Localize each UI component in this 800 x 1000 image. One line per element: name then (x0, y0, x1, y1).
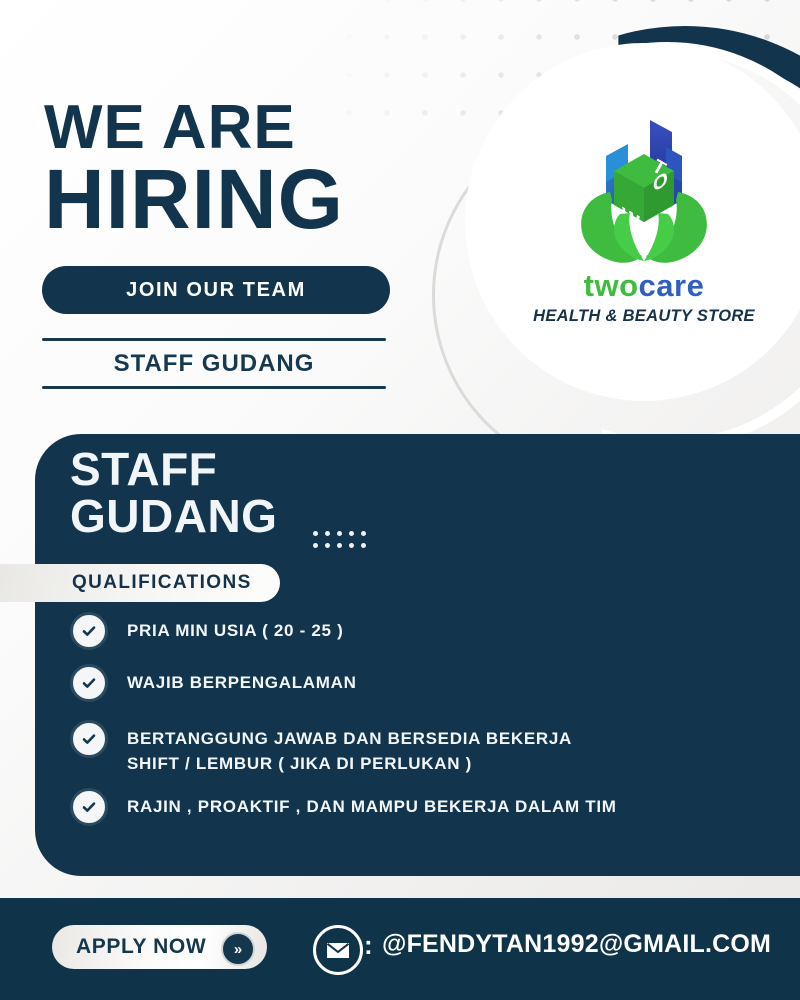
list-item: BERTANGGUNG JAWAB DAN BERSEDIA BEKERJA S… (70, 724, 730, 776)
check-circle-icon (70, 664, 108, 702)
list-item-label: RAJIN , PROAKTIF , DAN MAMPU BEKERJA DAL… (127, 792, 617, 820)
apply-now-label: APPLY NOW (76, 935, 206, 959)
qualifications-badge: QUALIFICATIONS (0, 564, 280, 602)
check-circle-icon (70, 612, 108, 650)
brand-tagline: HEALTH & BEAUTY STORE (533, 307, 755, 326)
join-our-team-label: JOIN OUR TEAM (126, 279, 306, 302)
company-logo: T W O twocare HEALTH & BEAUTY STORE (474, 52, 800, 392)
panel-job-title: STAFF GUDANG (70, 446, 400, 541)
twocare-cube-hands-icon: T W O (554, 118, 734, 268)
join-our-team-pill: JOIN OUR TEAM (42, 266, 390, 314)
apply-now-button[interactable]: APPLY NOW » (52, 925, 267, 969)
brand-wordmark: twocare (584, 270, 705, 301)
hiring-poster: T W O twocare HEALTH & BEAUTY STORE WE A… (0, 0, 800, 1000)
email-icon (313, 925, 363, 975)
headline-line-2: HIRING (44, 157, 344, 241)
panel-job-title-line-1: STAFF (70, 446, 400, 493)
check-circle-icon (70, 720, 108, 758)
role-title: STAFF GUDANG (42, 341, 386, 386)
double-chevron-right-icon: » (221, 932, 255, 966)
list-item-label: BERTANGGUNG JAWAB DAN BERSEDIA BEKERJA S… (127, 724, 572, 776)
brand-part-two: care (639, 268, 705, 303)
list-item: PRIA MIN USIA ( 20 - 25 ) (70, 616, 730, 650)
list-item-label: PRIA MIN USIA ( 20 - 25 ) (127, 616, 344, 644)
brand-part-one: two (584, 268, 639, 303)
list-item: RAJIN , PROAKTIF , DAN MAMPU BEKERJA DAL… (70, 792, 730, 826)
qualifications-label: QUALIFICATIONS (72, 572, 252, 594)
email-address[interactable]: @FENDYTAN1992@GMAIL.COM (382, 930, 771, 959)
list-item-label-line-2: SHIFT / LEMBUR ( JIKA DI PERLUKAN ) (127, 754, 472, 773)
list-item: WAJIB BERPENGALAMAN (70, 668, 730, 702)
decorative-dot-grid (313, 531, 373, 555)
qualifications-list: PRIA MIN USIA ( 20 - 25 ) WAJIB BERPENGA… (70, 616, 730, 844)
check-circle-icon (70, 788, 108, 826)
list-item-label-line-1: BERTANGGUNG JAWAB DAN BERSEDIA BEKERJA (127, 729, 572, 748)
headline-line-1: WE ARE (44, 97, 296, 159)
email-separator: : (364, 930, 373, 961)
list-item-label: WAJIB BERPENGALAMAN (127, 668, 357, 696)
divider-bottom (42, 386, 386, 389)
role-title-block: STAFF GUDANG (42, 338, 386, 389)
